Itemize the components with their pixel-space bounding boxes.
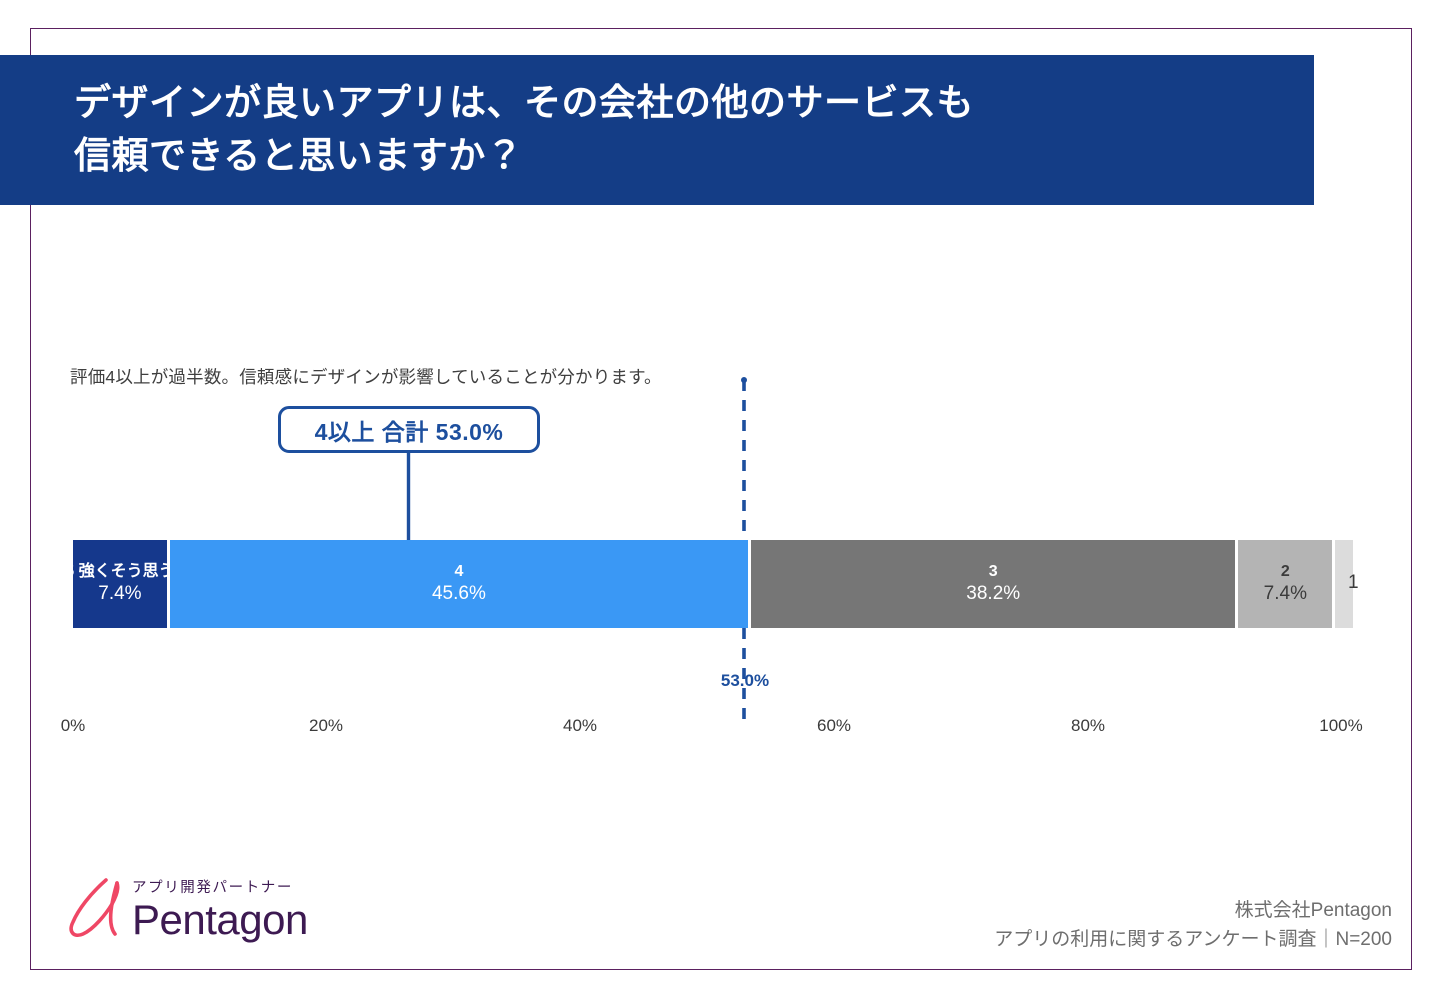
- footer: アプリ開発パートナー Pentagon 株式会社Pentagon アプリの利用に…: [0, 872, 1440, 962]
- x-tick-0: 0%: [61, 716, 86, 736]
- bar-segment-3-value: 38.2%: [966, 582, 1020, 606]
- chart-area: 評価4以上が過半数。信頼感にデザインが影響していることが分かります。 4以上 合…: [0, 0, 1440, 996]
- chart-note: 評価4以上が過半数。信頼感にデザインが影響していることが分かります。: [70, 364, 662, 389]
- bar-segment-5[interactable]: 5 強くそう思う 7.4%: [73, 540, 167, 628]
- bar-segment-3[interactable]: 3 38.2%: [751, 540, 1235, 628]
- footer-company: 株式会社Pentagon: [994, 896, 1392, 925]
- bar-segment-4[interactable]: 4 45.6%: [170, 540, 748, 628]
- bar-segment-5-value: 7.4%: [98, 582, 141, 606]
- x-axis: 0% 20% 40% 60% 80% 100%: [0, 716, 1440, 746]
- logo-tagline: アプリ開発パートナー: [132, 881, 308, 896]
- bar-segment-2-name: 2: [1281, 562, 1290, 582]
- bar-segment-4-value: 45.6%: [432, 582, 486, 606]
- footer-meta: 株式会社Pentagon アプリの利用に関するアンケート調査｜N=200: [994, 896, 1392, 955]
- callout-label: 4以上 合計 53.0%: [315, 413, 504, 447]
- footer-survey: アプリの利用に関するアンケート調査｜N=200: [994, 925, 1392, 954]
- x-tick-80: 80%: [1071, 716, 1105, 736]
- brand-logo: アプリ開発パートナー Pentagon: [62, 874, 308, 942]
- bar-segment-4-name: 4: [454, 562, 463, 582]
- x-tick-20: 20%: [309, 716, 343, 736]
- x-tick-40: 40%: [563, 716, 597, 736]
- stacked-bar: 5 強くそう思う 7.4% 4 45.6% 3 38.2% 2 7.4% 1: [73, 540, 1341, 628]
- logo-text: アプリ開発パートナー Pentagon: [132, 881, 308, 942]
- callout-box: 4以上 合計 53.0%: [278, 406, 540, 453]
- x-tick-100: 100%: [1319, 716, 1362, 736]
- bar-segment-2[interactable]: 2 7.4%: [1238, 540, 1332, 628]
- bar-segment-2-value: 7.4%: [1264, 582, 1307, 606]
- pentagon-swoosh-icon: [62, 874, 128, 942]
- bar-segment-5-name: 5 強くそう思う: [73, 562, 167, 582]
- slide: デザインが良いアプリは、その会社の他のサービスも 信頼できると思いますか？ 評価…: [0, 0, 1440, 996]
- threshold-label: 53.0%: [700, 671, 790, 691]
- bar-segment-1-outside-label: 1: [1348, 572, 1359, 594]
- bar-segment-3-name: 3: [989, 562, 998, 582]
- x-tick-60: 60%: [817, 716, 851, 736]
- logo-name: Pentagon: [132, 900, 308, 940]
